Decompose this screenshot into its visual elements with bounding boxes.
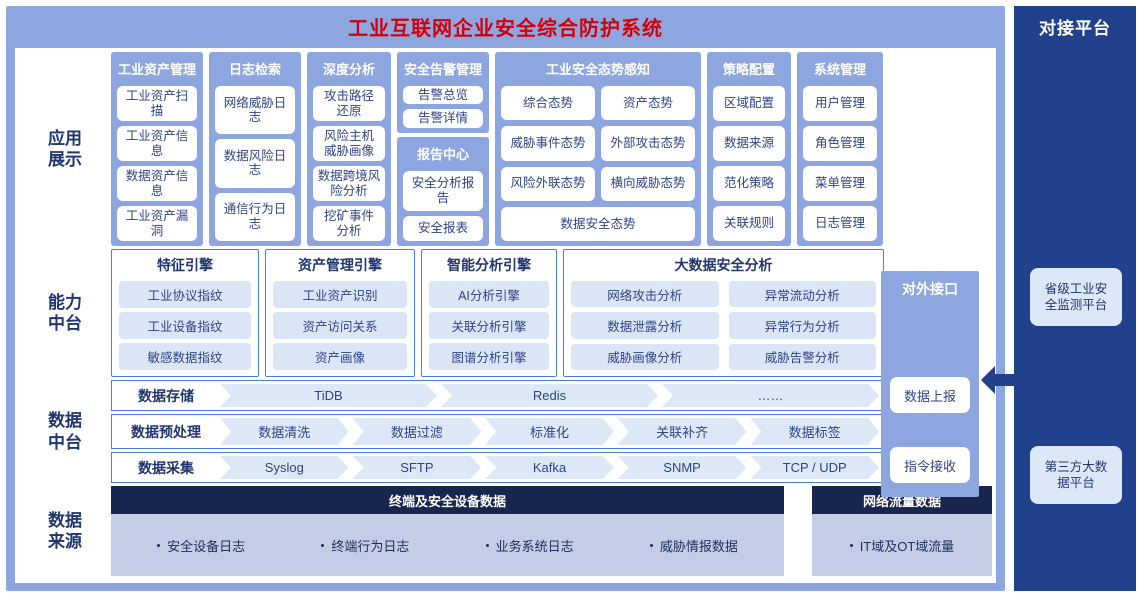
group-feature-engine: 特征引擎 工业协议指纹 工业设备指纹 敏感数据指纹 [111, 249, 259, 377]
app-item[interactable]: 范化策略 [713, 166, 785, 201]
data-line-label: 数据采集 [112, 453, 220, 482]
data-line-label: 数据预处理 [112, 415, 220, 448]
group-intelligent-analysis-engine: 智能分析引擎 AI分析引擎 关联分析引擎 图谱分析引擎 [421, 249, 557, 377]
app-item[interactable]: 数据风险日志 [215, 139, 295, 187]
app-item[interactable]: 风险主机 威胁画像 [313, 126, 385, 161]
group-title: 深度分析 [313, 57, 385, 81]
group-security-alarm-management: 安全告警管理 告警总览 告警详情 [397, 52, 489, 133]
data-chip[interactable]: 数据标签 [750, 418, 879, 445]
data-chip[interactable]: SFTP [353, 456, 482, 479]
app-item[interactable]: 角色管理 [803, 126, 877, 161]
source-item-label: 业务系统日志 [496, 536, 574, 555]
app-item[interactable]: 工业资产信息 [117, 126, 197, 161]
group-big-data-security-analysis: 大数据安全分析 网络攻击分析 异常流动分析 数据泄露分析 异常行为分析 威胁画像… [563, 249, 884, 377]
app-item[interactable]: 挖矿事件 分析 [313, 206, 385, 241]
data-chip[interactable]: …… [662, 384, 879, 407]
cap-item[interactable]: 威胁画像分析 [571, 344, 719, 370]
layer-data-platform: 数据 中台 数据存储 TiDB Redis …… 数据预处理 [19, 380, 992, 483]
app-item[interactable]: 安全分析报告 [403, 171, 483, 211]
data-chip[interactable]: Syslog [220, 456, 349, 479]
app-item[interactable]: 数据跨境风 险分析 [313, 166, 385, 201]
layer-label-capability: 能力 中台 [19, 249, 111, 377]
data-chip[interactable]: TiDB [220, 384, 437, 407]
architecture-board: 应用 展示 工业资产管理 工业资产扫描 工业资产信息 数据资产信息 工业资产漏洞… [15, 48, 996, 583]
group-deep-analysis: 深度分析 攻击路径 还原 风险主机 威胁画像 数据跨境风 险分析 挖矿事件 分析 [307, 52, 391, 246]
external-interface-command-receive-button[interactable]: 指令接收 [890, 447, 970, 483]
group-title: 大数据安全分析 [571, 254, 876, 277]
cap-item[interactable]: 敏感数据指纹 [119, 343, 251, 370]
group-title: 资产管理引擎 [273, 254, 407, 277]
group-title: 报告中心 [403, 142, 483, 166]
app-item[interactable]: 数据来源 [713, 126, 785, 161]
layer-label-application: 应用 展示 [19, 52, 111, 246]
source-item: 威胁情报数据 [650, 536, 738, 555]
cap-item[interactable]: 工业设备指纹 [119, 312, 251, 339]
cap-item[interactable]: 资产画像 [273, 343, 407, 370]
app-item[interactable]: 区域配置 [713, 86, 785, 121]
source-item-label: 威胁情报数据 [660, 536, 738, 555]
cap-item[interactable]: 异常行为分析 [729, 312, 877, 338]
source-item-label: 终端行为日志 [331, 536, 409, 555]
layer-data-source: 数据 来源 终端及安全设备数据 安全设备日志 终端行为日志 业务系统日志 威胁情… [19, 486, 992, 576]
layer-label-data-source: 数据 来源 [19, 486, 111, 576]
app-item[interactable]: 工业资产漏洞 [117, 206, 197, 241]
source-item-label: IT域及OT域流量 [860, 536, 955, 555]
app-item[interactable]: 数据安全态势 [501, 207, 695, 241]
app-item[interactable]: 告警详情 [403, 109, 483, 127]
app-item[interactable]: 攻击路径 还原 [313, 86, 385, 121]
group-alarm-and-report: 安全告警管理 告警总览 告警详情 报告中心 安全分析报告 安全报表 [397, 52, 489, 246]
bullet-icon [321, 544, 324, 547]
source-item: 业务系统日志 [486, 536, 574, 555]
group-external-interface: 对外接口 数据上报 指令接收 [881, 271, 979, 497]
bullet-icon [157, 544, 160, 547]
app-item[interactable]: 菜单管理 [803, 166, 877, 201]
app-item[interactable]: 综合态势 [501, 86, 595, 120]
data-chip[interactable]: SNMP [618, 456, 747, 479]
group-terminal-and-security-device-data: 终端及安全设备数据 安全设备日志 终端行为日志 业务系统日志 威胁情报数据 [111, 486, 784, 576]
group-title: 特征引擎 [119, 254, 251, 277]
group-report-center: 报告中心 安全分析报告 安全报表 [397, 137, 489, 246]
group-industrial-asset-management: 工业资产管理 工业资产扫描 工业资产信息 数据资产信息 工业资产漏洞 [111, 52, 203, 246]
group-title: 安全告警管理 [403, 57, 483, 81]
app-item[interactable]: 通信行为日志 [215, 193, 295, 241]
data-line-preprocess: 数据预处理 数据清洗 数据过滤 标准化 关联补齐 数据标签 [111, 414, 884, 449]
main-system-panel: 工业互联网企业安全综合防护系统 应用 展示 工业资产管理 工业资产扫描 工业资产… [6, 6, 1005, 591]
group-network-traffic-data: 网络流量数据 IT域及OT域流量 [812, 486, 992, 576]
app-item[interactable]: 外部攻击态势 [601, 126, 695, 160]
app-item[interactable]: 资产态势 [601, 86, 695, 120]
layer-label-data-platform: 数据 中台 [19, 380, 111, 483]
app-item[interactable]: 数据资产信息 [117, 166, 197, 201]
data-chip[interactable]: 标准化 [485, 418, 614, 445]
app-item[interactable]: 日志管理 [803, 206, 877, 241]
docking-platform-panel: 对接平台 省级工业安 全监测平台 第三方大数 据平台 [1014, 6, 1136, 591]
data-line-label: 数据存储 [112, 381, 220, 410]
app-item[interactable]: 安全报表 [403, 216, 483, 241]
cap-item[interactable]: 关联分析引擎 [429, 312, 549, 339]
external-interface-data-report-button[interactable]: 数据上报 [890, 377, 970, 413]
group-title: 工业安全态势感知 [501, 57, 695, 81]
platform-card-third-party-big-data[interactable]: 第三方大数 据平台 [1030, 446, 1122, 504]
app-item[interactable]: 网络威胁日志 [215, 86, 295, 134]
data-chip[interactable]: Redis [441, 384, 658, 407]
data-chip[interactable]: TCP / UDP [750, 456, 879, 479]
cap-item[interactable]: AI分析引擎 [429, 281, 549, 308]
docking-platform-title: 对接平台 [1039, 14, 1111, 39]
platform-card-provincial-industrial-security-monitoring[interactable]: 省级工业安 全监测平台 [1030, 268, 1122, 326]
diagram-root: 工业互联网企业安全综合防护系统 应用 展示 工业资产管理 工业资产扫描 工业资产… [0, 0, 1142, 595]
app-item[interactable]: 威胁事件态势 [501, 126, 595, 160]
app-item[interactable]: 用户管理 [803, 86, 877, 121]
source-item: 安全设备日志 [157, 536, 245, 555]
data-chip[interactable]: 关联补齐 [618, 418, 747, 445]
data-chip[interactable]: 数据清洗 [220, 418, 349, 445]
group-system-management: 系统管理 用户管理 角色管理 菜单管理 日志管理 [797, 52, 883, 246]
data-line-collection: 数据采集 Syslog SFTP Kafka SNMP TCP / UDP [111, 452, 884, 483]
cap-item[interactable]: 网络攻击分析 [571, 281, 719, 307]
cap-item[interactable]: 工业协议指纹 [119, 281, 251, 308]
cap-item[interactable]: 威胁告警分析 [729, 344, 877, 370]
bullet-icon [486, 544, 489, 547]
group-title: 对外接口 [902, 279, 958, 299]
group-title: 策略配置 [713, 57, 785, 81]
group-title: 终端及安全设备数据 [111, 486, 784, 514]
bullet-icon [650, 544, 653, 547]
group-title: 工业资产管理 [117, 57, 197, 81]
data-chip[interactable]: 数据过滤 [353, 418, 482, 445]
app-item[interactable]: 告警总览 [403, 86, 483, 104]
app-item[interactable]: 风险外联态势 [501, 167, 595, 201]
cap-item[interactable]: 异常流动分析 [729, 281, 877, 307]
system-title-bar: 工业互联网企业安全综合防护系统 [6, 6, 1005, 46]
layer-capability-platform: 能力 中台 特征引擎 工业协议指纹 工业设备指纹 敏感数据指纹 资产管理引擎 工… [19, 249, 992, 377]
cap-item[interactable]: 图谱分析引擎 [429, 343, 549, 370]
cap-item[interactable]: 数据泄露分析 [571, 312, 719, 338]
group-industrial-security-situation-awareness: 工业安全态势感知 综合态势 资产态势 威胁事件态势 外部攻击态势 风险外联态势 … [495, 52, 701, 246]
source-item: 终端行为日志 [321, 536, 409, 555]
group-log-retrieval: 日志检索 网络威胁日志 数据风险日志 通信行为日志 [209, 52, 301, 246]
cap-item[interactable]: 资产访问关系 [273, 312, 407, 339]
bullet-icon [850, 544, 853, 547]
group-policy-configuration: 策略配置 区域配置 数据来源 范化策略 关联规则 [707, 52, 791, 246]
data-line-storage: 数据存储 TiDB Redis …… [111, 380, 884, 411]
app-item[interactable]: 横向威胁态势 [601, 167, 695, 201]
layer-application-display: 应用 展示 工业资产管理 工业资产扫描 工业资产信息 数据资产信息 工业资产漏洞… [19, 52, 992, 246]
data-chip[interactable]: Kafka [485, 456, 614, 479]
page-title: 工业互联网企业安全综合防护系统 [348, 12, 663, 41]
source-item: IT域及OT域流量 [850, 536, 955, 555]
app-item[interactable]: 工业资产扫描 [117, 86, 197, 121]
source-item-label: 安全设备日志 [167, 536, 245, 555]
cap-item[interactable]: 工业资产识别 [273, 281, 407, 308]
app-item[interactable]: 关联规则 [713, 206, 785, 241]
group-asset-management-engine: 资产管理引擎 工业资产识别 资产访问关系 资产画像 [265, 249, 415, 377]
group-title: 系统管理 [803, 57, 877, 81]
group-title: 日志检索 [215, 57, 295, 81]
group-title: 智能分析引擎 [429, 254, 549, 277]
